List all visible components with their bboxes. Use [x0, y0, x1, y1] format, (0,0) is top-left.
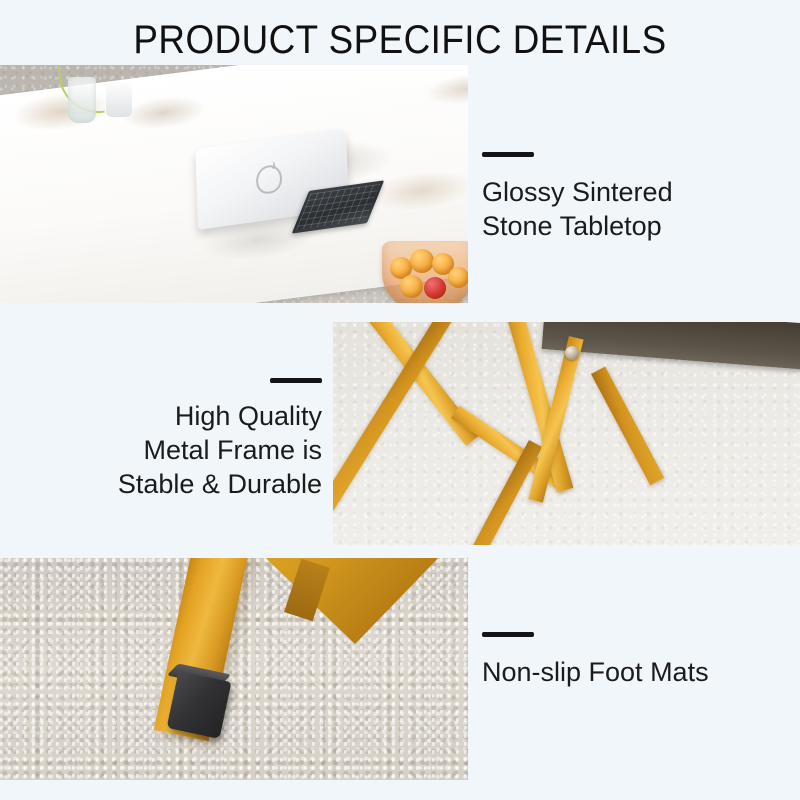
caption-text-frame: High Quality Metal Frame is Stable & Dur…	[20, 399, 322, 501]
caption-rule	[482, 152, 534, 157]
fruit-orange	[448, 267, 468, 288]
page-title: PRODUCT SPECIFIC DETAILS	[32, 18, 768, 62]
cup	[106, 83, 132, 117]
feature-photo-tabletop	[0, 65, 468, 303]
feature-caption-frame: High Quality Metal Frame is Stable & Dur…	[20, 378, 322, 501]
feature-caption-footmat: Non-slip Foot Mats	[482, 632, 782, 689]
frame-bolt	[565, 346, 579, 360]
apple-logo-icon	[256, 164, 283, 196]
product-detail-page: PRODUCT SPECIFIC DETAILS Glossy Sintered…	[0, 0, 800, 800]
fruit-red	[424, 277, 446, 299]
caption-text-footmat: Non-slip Foot Mats	[482, 655, 782, 689]
fruit-bowl	[382, 241, 468, 303]
caption-rule	[270, 378, 322, 383]
caption-text-tabletop: Glossy Sintered Stone Tabletop	[482, 175, 782, 243]
feature-caption-tabletop: Glossy Sintered Stone Tabletop	[482, 152, 782, 243]
fruit-orange	[400, 275, 423, 298]
feature-photo-frame	[333, 322, 800, 545]
glass-vase	[68, 77, 96, 123]
feature-photo-footmat	[0, 558, 468, 780]
fruit-orange	[410, 249, 434, 273]
caption-rule	[482, 632, 534, 637]
